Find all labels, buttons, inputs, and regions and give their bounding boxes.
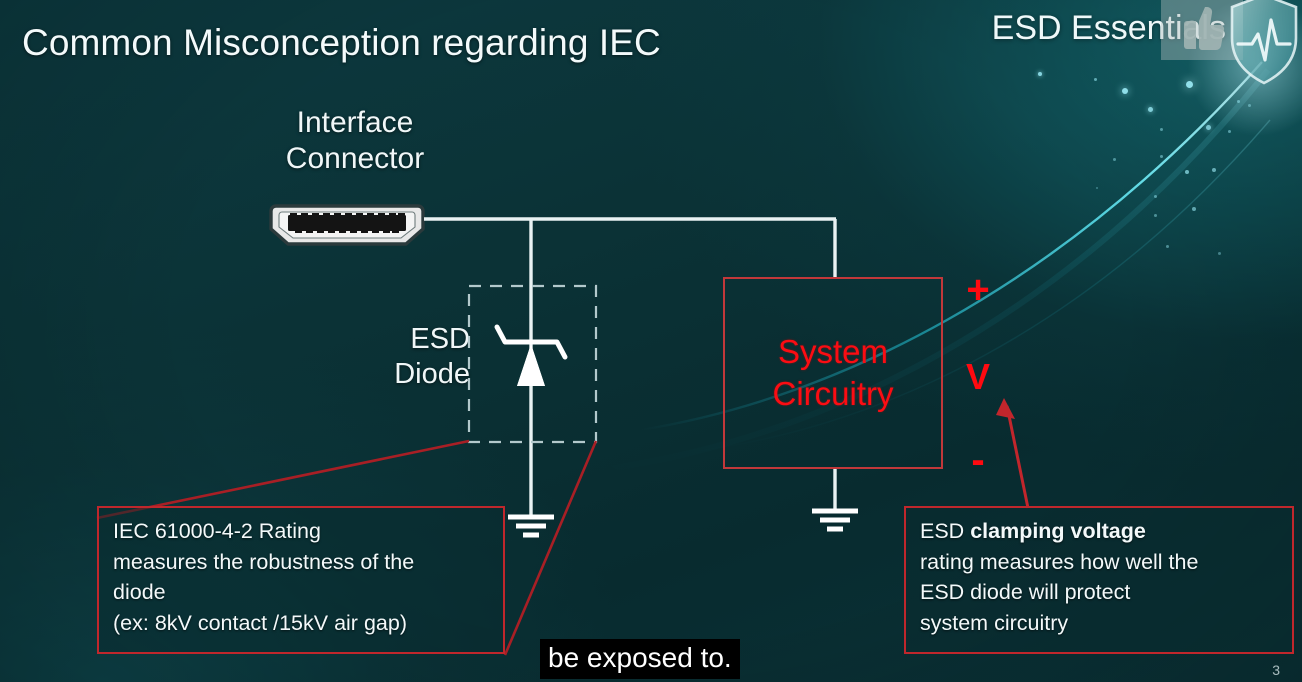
shield-pulse-icon: [1228, 0, 1300, 86]
interface-connector-label-line1: Interface: [230, 105, 480, 141]
slide-canvas: Common Misconception regarding IEC ESD E…: [0, 0, 1302, 682]
page-title: Common Misconception regarding IEC: [22, 22, 661, 64]
system-circuitry-label-line2: Circuitry: [773, 373, 894, 415]
caption-bar: be exposed to.: [540, 639, 740, 679]
callout-right-line1: ESD clamping voltage: [920, 516, 1280, 547]
interface-connector-label: Interface Connector: [230, 105, 480, 177]
system-circuitry-label-line1: System: [778, 331, 888, 373]
esd-diode-label-line1: ESD: [330, 322, 470, 357]
esd-diode-label: ESD Diode: [330, 322, 470, 392]
callout-right-line1-bold: clamping voltage: [970, 519, 1146, 543]
esd-diode-label-line2: Diode: [330, 357, 470, 392]
hdmi-connector-icon: [268, 203, 426, 247]
callout-left-line4: (ex: 8kV contact /15kV air gap): [113, 608, 491, 639]
callout-right-line1-plain: ESD: [920, 519, 970, 543]
callout-left-line2: measures the robustness of the: [113, 547, 491, 578]
polarity-minus-label: -: [958, 438, 998, 483]
callout-right-line3: ESD diode will protect: [920, 577, 1280, 608]
polarity-voltage-label: V: [958, 356, 998, 398]
page-number: 3: [1272, 662, 1280, 678]
callout-right-line2: rating measures how well the: [920, 547, 1280, 578]
callout-right-line4: system circuitry: [920, 608, 1280, 639]
thumbs-up-icon: [1177, 0, 1227, 53]
callout-left: IEC 61000-4-2 Rating measures the robust…: [97, 506, 505, 654]
polarity-plus-label: +: [958, 268, 998, 313]
callout-left-line1: IEC 61000-4-2 Rating: [113, 516, 491, 547]
callout-right: ESD clamping voltage rating measures how…: [904, 506, 1294, 654]
callout-left-line3: diode: [113, 577, 491, 608]
interface-connector-label-line2: Connector: [230, 141, 480, 177]
system-circuitry-box: System Circuitry: [723, 277, 943, 469]
